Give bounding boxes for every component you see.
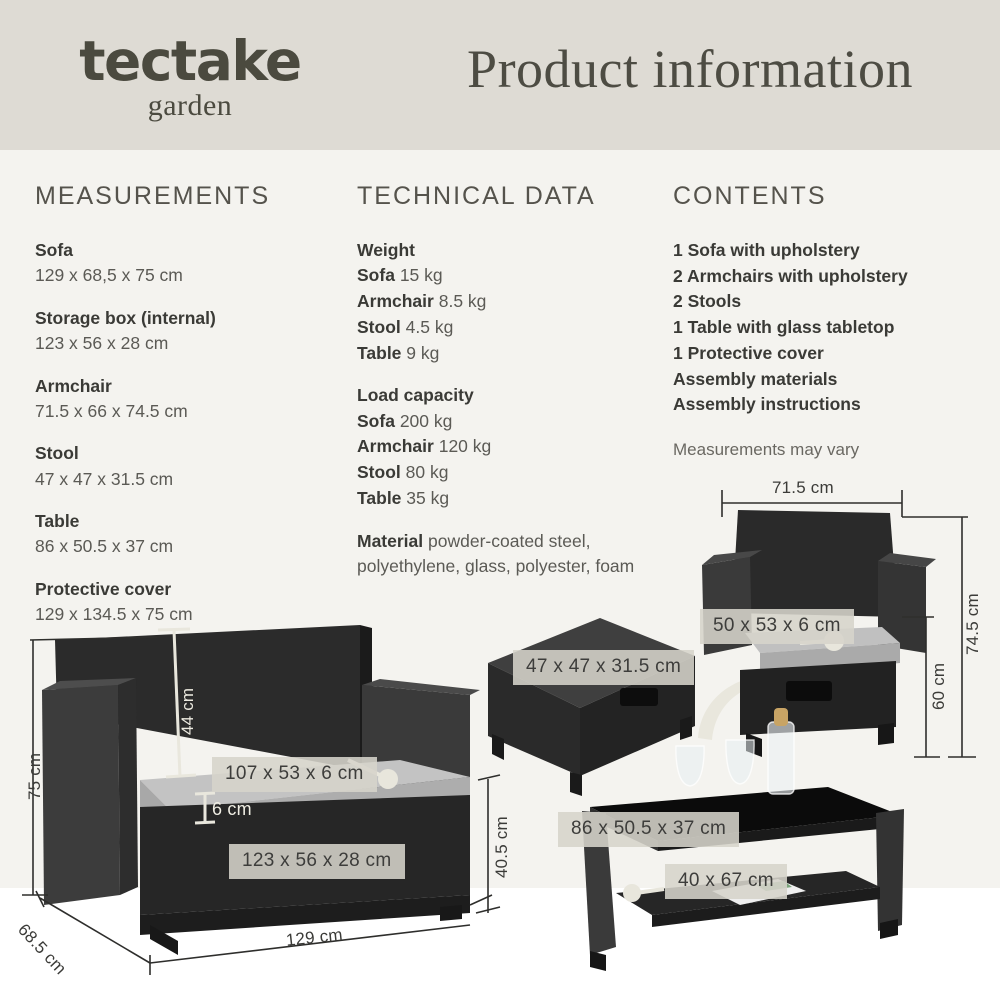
weight-row-table: Table 9 kg <box>357 341 662 367</box>
contents-item: 1 Protective cover <box>673 341 983 367</box>
row-value: 15 kg <box>400 265 443 285</box>
measurements-heading: MEASUREMENTS <box>35 182 335 211</box>
armchair-backrest <box>732 510 898 617</box>
row-value: 200 kg <box>400 411 453 431</box>
load-row-sofa: Sofa 200 kg <box>357 409 662 435</box>
measurement-value: 47 x 47 x 31.5 cm <box>35 467 335 492</box>
measurement-item-armchair: Armchair 71.5 x 66 x 74.5 cm <box>35 374 335 425</box>
weight-row-armchair: Armchair 8.5 kg <box>357 289 662 315</box>
bottle-cork <box>774 708 788 726</box>
sofa-left-arm <box>42 685 120 905</box>
sofa-seat-height-label: 40.5 cm <box>492 816 512 878</box>
measurement-title: Armchair <box>35 374 335 399</box>
row-value: 4.5 kg <box>406 317 454 337</box>
measurement-item-sofa: Sofa 129 x 68,5 x 75 cm <box>35 238 335 289</box>
row-label: Stool <box>357 317 401 337</box>
measurement-title: Table <box>35 509 335 534</box>
water-glass-right <box>726 740 754 784</box>
load-row-table: Table 35 kg <box>357 486 662 512</box>
row-label: Armchair <box>357 291 434 311</box>
material-block: Material powder-coated steel, polyethyle… <box>357 529 662 580</box>
tabletop-items <box>660 700 860 830</box>
sofa-cushion-label: 107 x 53 x 6 cm <box>212 757 377 792</box>
contents-heading: CONTENTS <box>673 182 983 211</box>
armchair-height-label: 74.5 cm <box>963 593 983 655</box>
row-value: 35 kg <box>406 488 449 508</box>
sofa-leg-right <box>440 905 462 921</box>
table-size-label: 86 x 50.5 x 37 cm <box>558 812 739 847</box>
sofa-left-arm-inner <box>118 678 138 895</box>
load-capacity-block: Load capacity Sofa 200 kg Armchair 120 k… <box>357 383 662 511</box>
measurement-item-table: Table 86 x 50.5 x 37 cm <box>35 509 335 560</box>
row-label: Armchair <box>357 436 434 456</box>
row-value: 80 kg <box>406 462 449 482</box>
measurement-title: Stool <box>35 441 335 466</box>
material-label: Material <box>357 531 423 551</box>
armchair-handle-cutout <box>786 681 832 701</box>
measurement-title: Sofa <box>35 238 335 263</box>
technical-data-heading: TECHNICAL DATA <box>357 182 662 211</box>
row-value: 8.5 kg <box>439 291 487 311</box>
measurement-item-storage-box: Storage box (internal) 123 x 56 x 28 cm <box>35 306 335 357</box>
row-label: Table <box>357 488 401 508</box>
contents-item: 1 Sofa with upholstery <box>673 238 983 264</box>
row-value: 9 kg <box>406 343 439 363</box>
measurement-value: 86 x 50.5 x 37 cm <box>35 534 335 559</box>
measurement-title: Storage box (internal) <box>35 306 335 331</box>
stool-size-label: 47 x 47 x 31.5 cm <box>513 650 694 685</box>
page-title: Product information <box>400 38 980 100</box>
contents-item: Assembly instructions <box>673 392 983 418</box>
brand-subtitle: garden <box>55 89 325 124</box>
armchair-cushion-label: 50 x 53 x 6 cm <box>700 609 854 644</box>
stool-handle-cutout <box>620 688 658 706</box>
table-shelf-label: 40 x 67 cm <box>665 864 787 899</box>
table-foot-left <box>590 951 606 971</box>
contents-item: 2 Armchairs with upholstery <box>673 264 983 290</box>
weight-row-sofa: Sofa 15 kg <box>357 263 662 289</box>
row-label: Sofa <box>357 265 395 285</box>
weight-row-stool: Stool 4.5 kg <box>357 315 662 341</box>
table-right-leg <box>876 809 904 931</box>
row-label: Table <box>357 343 401 363</box>
contents-item: 2 Stools <box>673 289 983 315</box>
product-information-page: tectake garden Product information MEASU… <box>0 0 1000 1000</box>
armchair-leg-right <box>878 723 894 745</box>
measurements-column: MEASUREMENTS Sofa 129 x 68,5 x 75 cm Sto… <box>35 182 335 645</box>
measurement-item-stool: Stool 47 x 47 x 31.5 cm <box>35 441 335 492</box>
sofa-cushion-thickness-label: 6 cm <box>212 799 252 820</box>
measurement-value: 123 x 56 x 28 cm <box>35 331 335 356</box>
sofa-height-label: 75 cm <box>25 753 45 800</box>
sofa-storage-box-label: 123 x 56 x 28 cm <box>229 844 405 879</box>
weight-title: Weight <box>357 238 662 263</box>
row-label: Stool <box>357 462 401 482</box>
contents-item: Assembly materials <box>673 367 983 393</box>
armchair-width-label: 71.5 cm <box>772 478 834 498</box>
load-capacity-title: Load capacity <box>357 383 662 408</box>
brand-logo: tectake garden <box>55 34 325 124</box>
water-bottle <box>768 708 794 794</box>
row-label: Sofa <box>357 411 395 431</box>
technical-data-column: TECHNICAL DATA Weight Sofa 15 kg Armchai… <box>357 182 662 597</box>
contents-item: 1 Table with glass tabletop <box>673 315 983 341</box>
header-band: tectake garden Product information <box>0 0 1000 150</box>
armchair-back-height-label: 60 cm <box>929 663 949 710</box>
measurement-value: 71.5 x 66 x 74.5 cm <box>35 399 335 424</box>
weight-block: Weight Sofa 15 kg Armchair 8.5 kg Stool … <box>357 238 662 366</box>
water-glass-left <box>676 746 704 786</box>
row-value: 120 kg <box>439 436 492 456</box>
measurements-vary-note: Measurements may vary <box>673 440 983 460</box>
sofa-backrest-label: 44 cm <box>178 688 198 735</box>
measurement-value: 129 x 68,5 x 75 cm <box>35 263 335 288</box>
contents-column: CONTENTS 1 Sofa with upholstery 2 Armcha… <box>673 182 983 460</box>
brand-name: tectake <box>55 34 325 89</box>
material-row: Material powder-coated steel, polyethyle… <box>357 529 662 580</box>
load-row-stool: Stool 80 kg <box>357 460 662 486</box>
load-row-armchair: Armchair 120 kg <box>357 434 662 460</box>
